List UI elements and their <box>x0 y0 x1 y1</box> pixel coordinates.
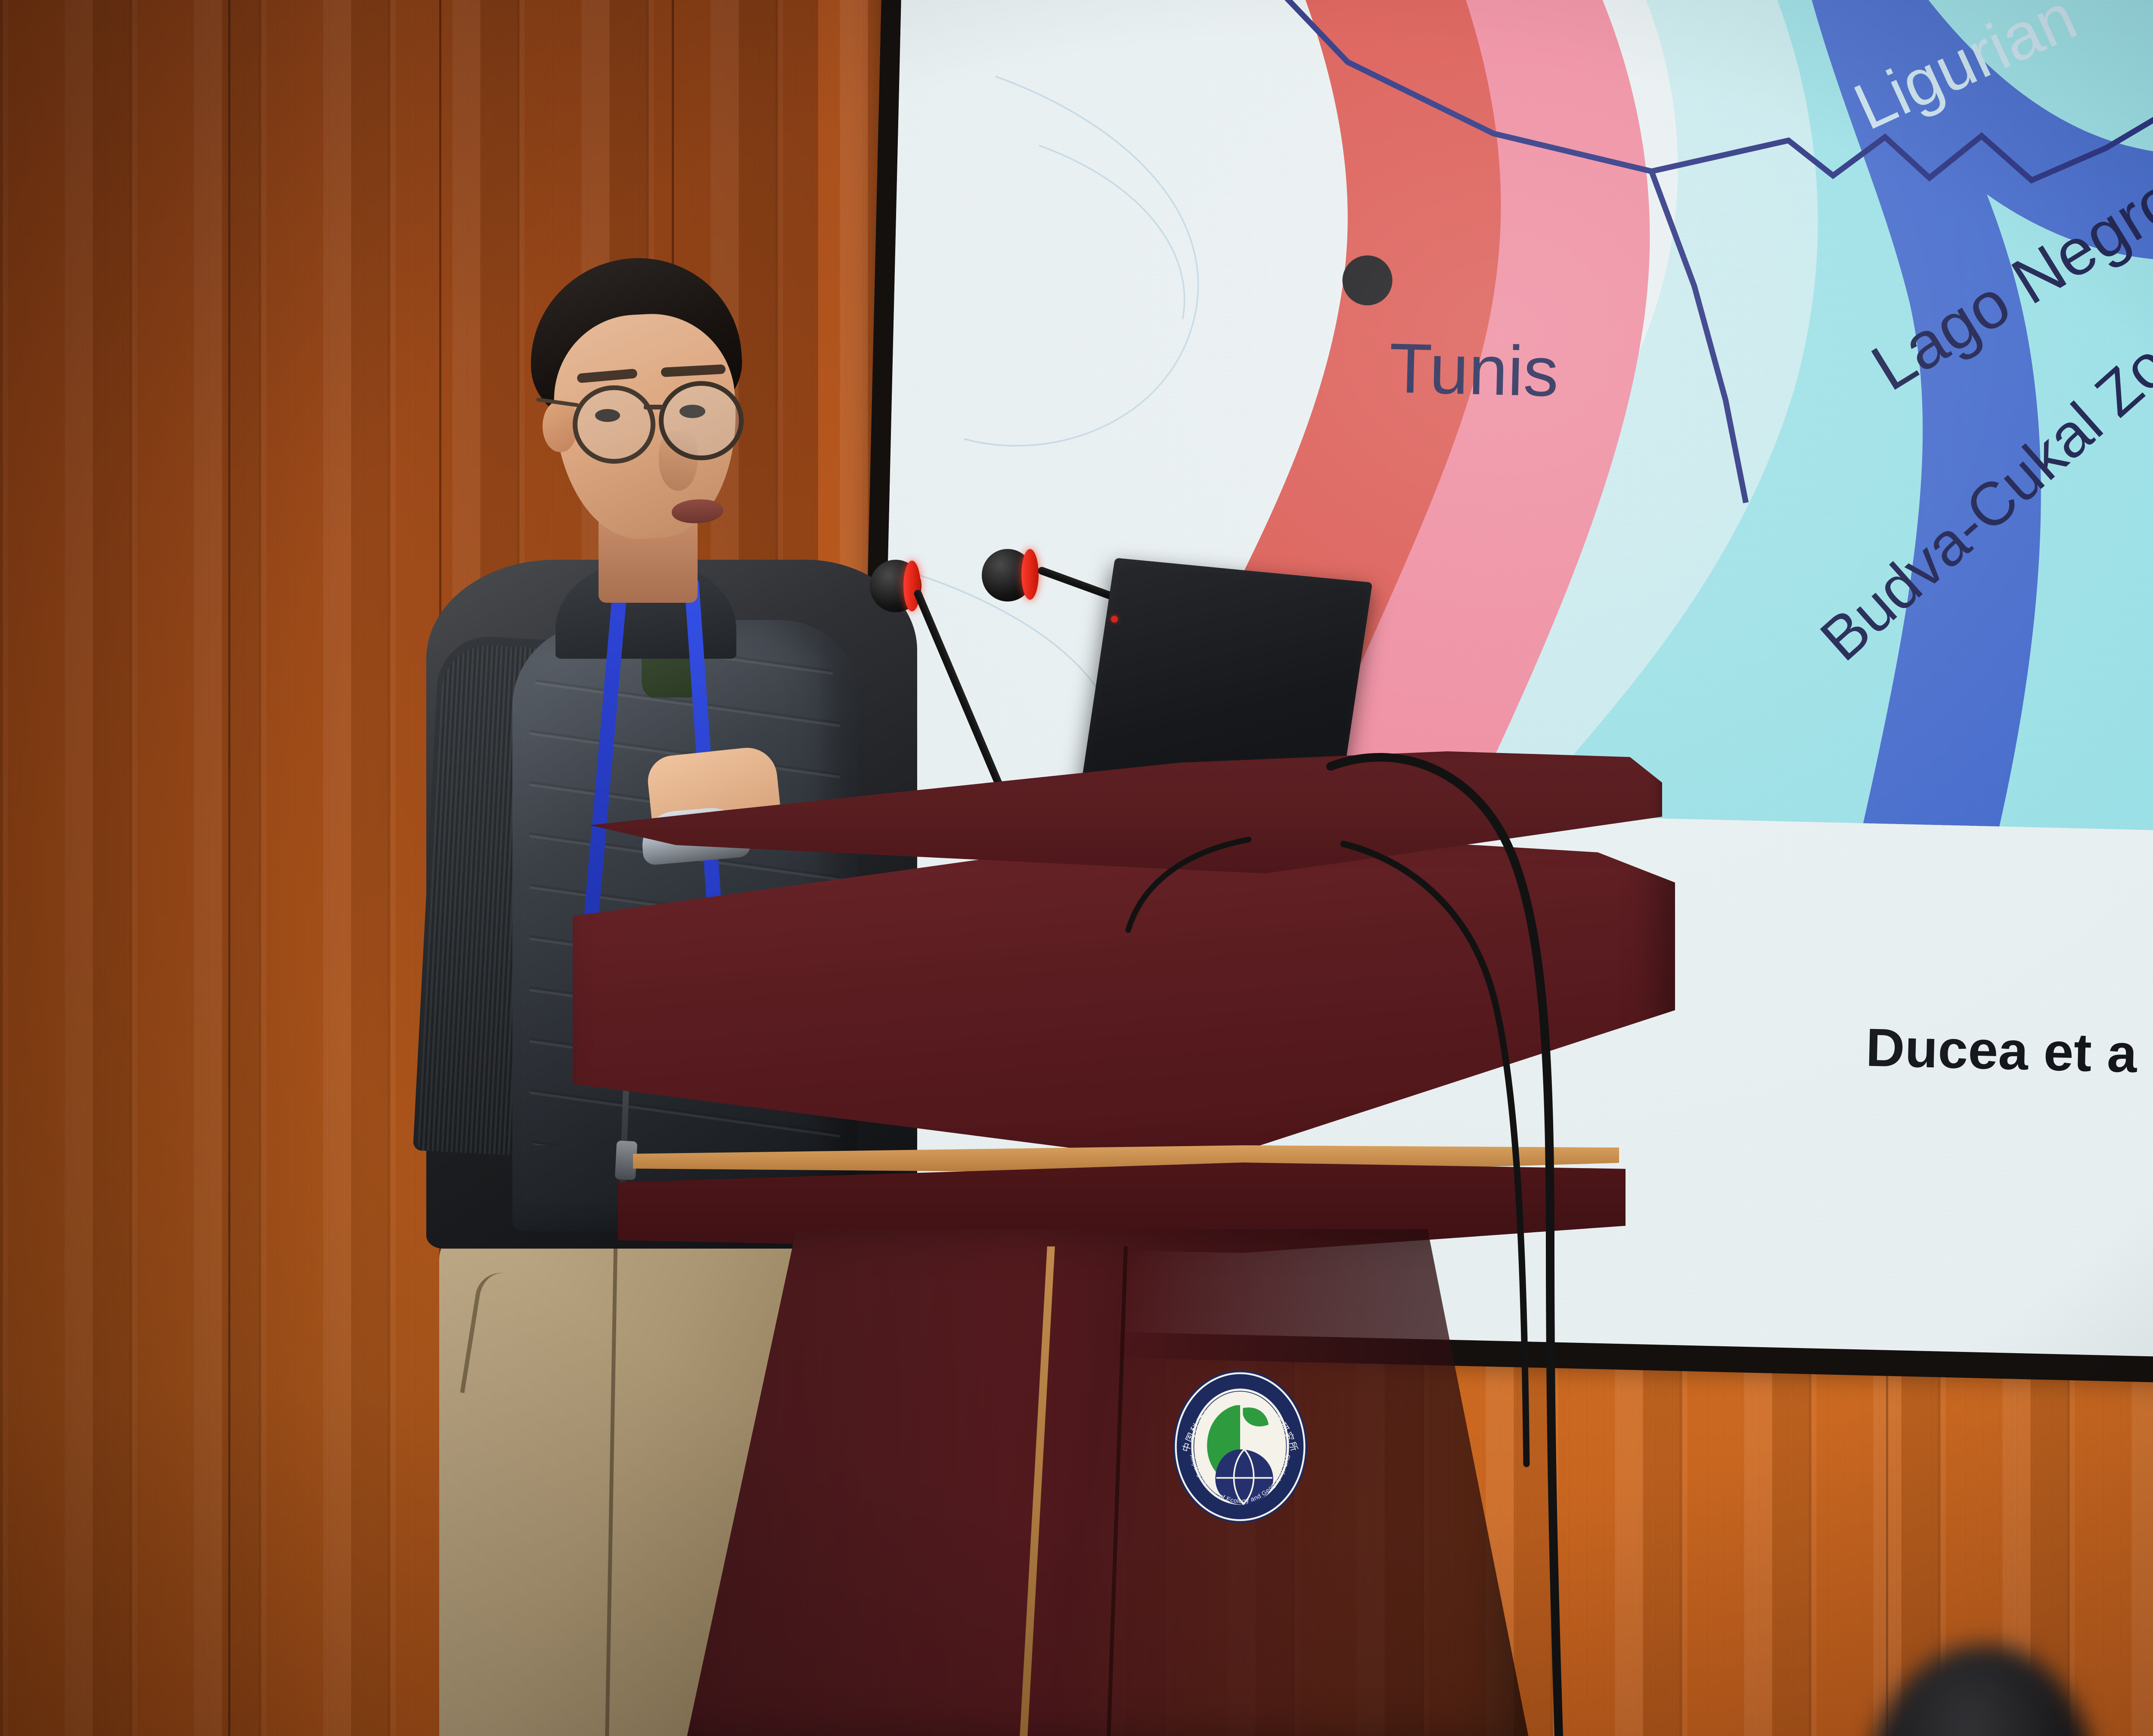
microphone-indicator-ring <box>1021 549 1039 600</box>
eyeglasses-bridge <box>644 405 663 409</box>
eyeglasses-lens <box>659 381 744 460</box>
tomography-map: Tunis Rome Ligurian Lago Negro Budva-Cuk… <box>882 0 2153 841</box>
eyeglasses-lens <box>573 385 655 464</box>
institute-emblem: 中国科学院新疆生态与地理研究所 Xinjiang Institute of Ec… <box>1171 1367 1309 1526</box>
slide-citation: Ducea et a <box>1865 1017 2138 1085</box>
lectern-front-panel <box>573 829 1675 1165</box>
lectern-column-shading <box>687 1229 1529 1736</box>
map-artwork: Tunis Rome Ligurian Lago Negro Budva-Cuk… <box>882 0 2153 841</box>
screenshot-root: Tunis Rome Ligurian Lago Negro Budva-Cuk… <box>0 0 2153 1736</box>
wall-seam <box>228 0 230 1736</box>
map-label-tunis: Tunis <box>1388 329 1560 411</box>
institute-emblem-artwork: 中国科学院新疆生态与地理研究所 Xinjiang Institute of Ec… <box>1171 1367 1309 1526</box>
speaker-ear <box>543 400 577 452</box>
lectern: 中国科学院新疆生态与地理研究所 Xinjiang Institute of Ec… <box>573 751 1692 1736</box>
